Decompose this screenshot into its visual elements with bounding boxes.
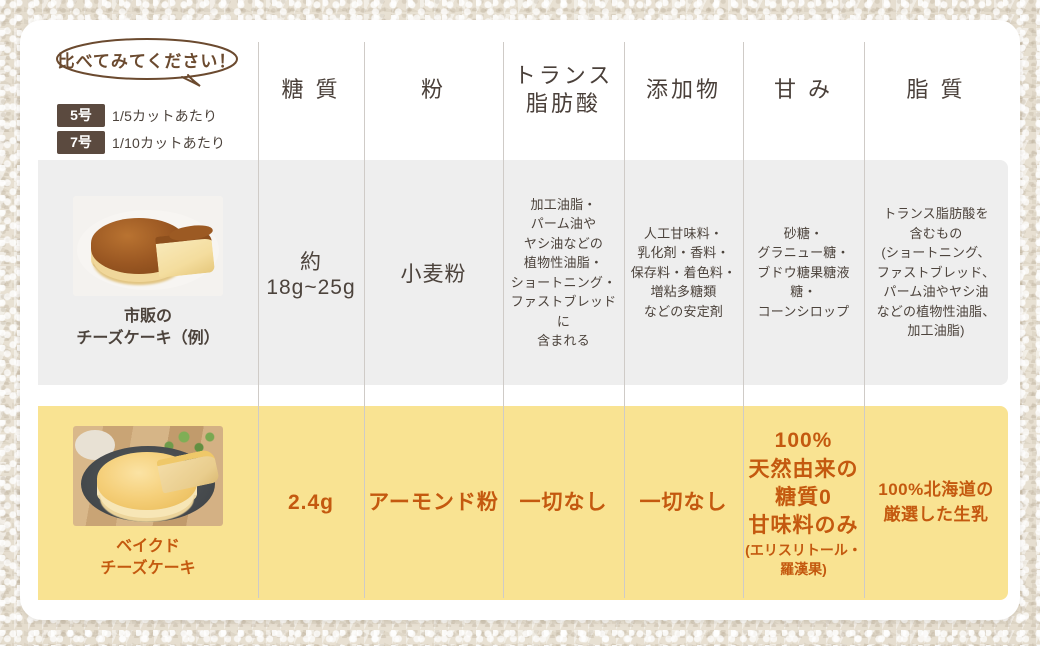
header-sweetener: 甘 み	[743, 20, 864, 160]
column-divider	[743, 42, 744, 598]
cell-store-sugar: 約18g~25g	[258, 160, 364, 385]
table-row: 市販のチーズケーキ（例） 約18g~25g 小麦粉 加工油脂・パーム油やヤシ油な…	[38, 160, 1008, 385]
table-row: ベイクドチーズケーキ 2.4g アーモンド粉 一切なし 一切なし 100%天然由…	[38, 406, 1008, 600]
row-label-store-bought: 市販のチーズケーキ（例）	[38, 160, 258, 385]
column-divider	[503, 42, 504, 598]
header-fat: 脂 質	[864, 20, 1008, 160]
row-label-text-store: 市販のチーズケーキ（例）	[76, 306, 219, 349]
cell-baked-flour: アーモンド粉	[364, 406, 503, 600]
column-divider	[258, 42, 259, 598]
cell-store-flour: 小麦粉	[364, 160, 503, 385]
cell-baked-sweetener-note: (エリスリトール・羅漢果)	[745, 541, 862, 579]
store-bought-cheesecake-photo	[73, 196, 223, 296]
cell-store-fat: トランス脂肪酸を含むもの(ショートニング、ファストブレッド、パーム油やヤシ油など…	[864, 160, 1008, 385]
header-flour: 粉	[364, 20, 503, 160]
column-divider	[364, 42, 365, 598]
cell-store-additives: 人工甘味料・乳化剤・香料・保存料・着色料・増粘多糖類などの安定剤	[624, 160, 743, 385]
cell-store-trans-fat: 加工油脂・パーム油やヤシ油などの植物性油脂・ショートニング・ファストブレッドに含…	[503, 160, 624, 385]
row-label-baked: ベイクドチーズケーキ	[38, 406, 258, 600]
cell-baked-sweetener: 100%天然由来の糖質0甘味料のみ (エリスリトール・羅漢果)	[743, 406, 864, 600]
header-additives: 添加物	[624, 20, 743, 160]
column-divider	[864, 42, 865, 598]
cell-baked-fat: 100%北海道の厳選した生乳	[864, 406, 1008, 600]
cell-store-sweetener: 砂糖・グラニュー糖・ブドウ糖果糖液糖・コーンシロップ	[743, 160, 864, 385]
header-sugar: 糖 質	[258, 20, 364, 160]
cell-baked-additives: 一切なし	[624, 406, 743, 600]
cell-baked-trans-fat: 一切なし	[503, 406, 624, 600]
comparison-table-card: 比べてみてください！ 5号 1/5カットあたり 7号 1/10カットあたり 糖 …	[20, 20, 1020, 620]
header-trans-fat: トランス脂肪酸	[503, 20, 624, 160]
cell-baked-sugar: 2.4g	[258, 406, 364, 600]
row-label-text-baked: ベイクドチーズケーキ	[100, 536, 195, 579]
table-header-row: 糖 質 粉 トランス脂肪酸 添加物 甘 み 脂 質	[20, 20, 1020, 160]
baked-cheesecake-photo	[73, 426, 223, 526]
cell-baked-sweetener-main: 100%天然由来の糖質0甘味料のみ	[749, 427, 859, 540]
column-divider	[624, 42, 625, 598]
